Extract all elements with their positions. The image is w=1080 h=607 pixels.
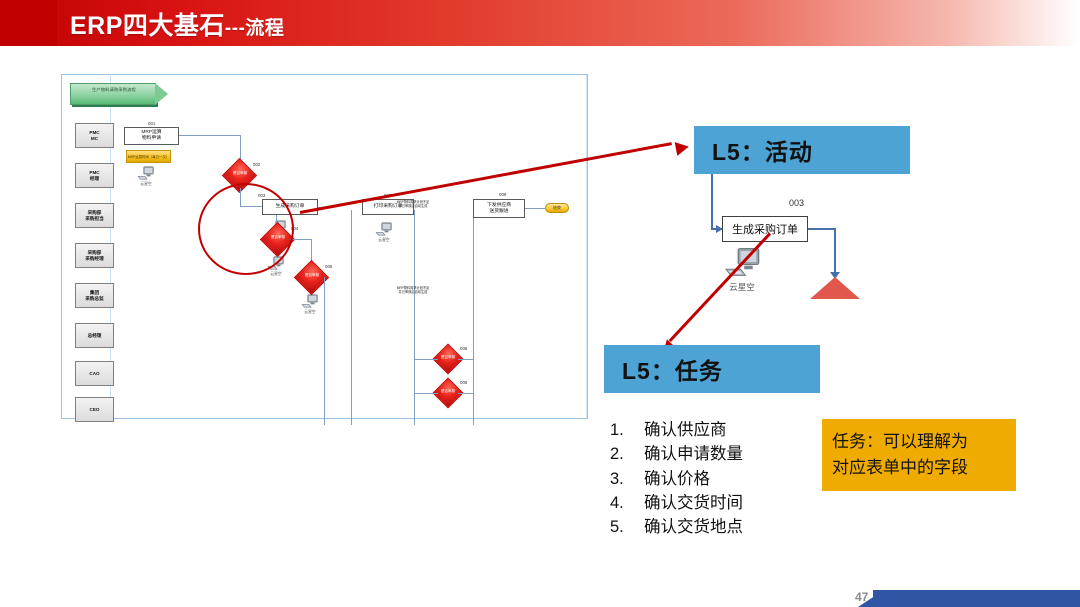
box-num-009: 009	[499, 192, 506, 197]
detail-connector-right2	[808, 228, 836, 230]
explanation-line-1: 任务：可以理解为	[832, 429, 1016, 455]
lane-general-manager: 总经理	[75, 323, 114, 348]
list-item-text: 确认交货地点	[644, 515, 743, 539]
connector	[525, 208, 545, 209]
page-title-suffix: ---流程	[225, 18, 284, 39]
lane-divider	[586, 75, 587, 418]
system-label: 云星空	[371, 238, 397, 243]
callout-box-activity: L5：活动	[694, 126, 910, 174]
connector	[458, 359, 474, 360]
slide-canvas: ERP四大基石---流程 生产物料请购采购流程 PMCMC PMC经理 采购部采…	[0, 0, 1080, 607]
decision-002-label: 是否审核	[225, 171, 255, 176]
explanation-line-2: 对应表单中的字段	[832, 455, 1016, 481]
page-title-main: ERP四大基石	[70, 12, 225, 40]
list-item-text: 确认价格	[644, 467, 710, 491]
highlight-ellipse	[198, 183, 294, 275]
process-box-009: 下发供应商送货跟进	[473, 199, 525, 218]
lane-purchasing-officer: 采购部采购担当	[75, 203, 114, 228]
decision-num-008-a: 008	[460, 346, 467, 351]
lane-pmc-mc: PMCMC	[75, 123, 114, 148]
list-item: 4. 确认交货时间	[610, 491, 840, 515]
list-item-text: 确认申请数量	[644, 442, 743, 466]
inline-note-bottom: MRP物料需求计划不足并已审核后自动生成	[378, 286, 448, 294]
list-item-index: 5.	[610, 515, 644, 539]
connector	[414, 359, 438, 360]
decision-num-008-b: 008	[460, 380, 467, 385]
connector	[414, 393, 438, 394]
detail-connector-down	[834, 228, 836, 276]
connector	[290, 239, 312, 240]
decision-006-label: 是否审核	[297, 273, 327, 278]
lane-cao: CAO	[75, 361, 114, 386]
system-icon	[137, 165, 155, 181]
callout-arrow-activity-head	[675, 140, 690, 156]
system-icon	[375, 221, 393, 237]
page-number: 47	[855, 590, 868, 604]
system-icon	[301, 293, 319, 309]
decision-num-006: 006	[325, 264, 332, 269]
connector	[240, 135, 241, 159]
decision-num-002: 002	[253, 162, 260, 167]
system-label: 云星空	[263, 272, 289, 277]
callout-box-task: L5：任务	[604, 345, 820, 393]
inline-note-top: MRP物料需求计划不足并已审核后自动生成	[378, 200, 448, 208]
page-title: ERP四大基石---流程	[70, 6, 284, 42]
list-item: 5. 确认交货地点	[610, 515, 840, 539]
list-item: 1. 确认供应商	[610, 418, 840, 442]
system-label: 云星空	[297, 310, 323, 315]
list-item-index: 1.	[610, 418, 644, 442]
list-item-text: 确认供应商	[644, 418, 727, 442]
explanation-box: 任务：可以理解为 对应表单中的字段	[822, 419, 1016, 491]
list-item: 2. 确认申请数量	[610, 442, 840, 466]
flowchart-title-banner-arrow	[155, 83, 168, 105]
title-banner-left-block	[0, 0, 57, 46]
process-box-001: MRP运算物料申请	[124, 127, 179, 145]
list-item-text: 确认交货时间	[644, 491, 743, 515]
end-node: 结束	[545, 203, 569, 213]
lane-purchasing-manager: 采购部采购经理	[75, 243, 114, 268]
sticky-note-mrp: MRP运算时间（每日一次）	[126, 150, 171, 163]
connector	[458, 393, 474, 394]
box-num-001: 001	[148, 121, 155, 126]
list-item-index: 3.	[610, 467, 644, 491]
lane-ceo: CEO	[75, 397, 114, 422]
detail-connector-vertical	[711, 174, 713, 229]
detail-decision-shape	[810, 277, 860, 299]
connector	[351, 210, 352, 425]
detail-box-number: 003	[789, 198, 804, 208]
lane-pmc-manager: PMC经理	[75, 163, 114, 188]
task-list: 1. 确认供应商 2. 确认申请数量 3. 确认价格 4. 确认交货时间 5. …	[610, 418, 840, 539]
connector	[324, 277, 325, 425]
flowchart-title-label: 生产物料请购采购流程	[72, 87, 156, 93]
connector	[179, 135, 241, 136]
lane-group-purchasing-director: 集团采购总监	[75, 283, 114, 308]
list-item-index: 4.	[610, 491, 644, 515]
list-item-index: 2.	[610, 442, 644, 466]
footer-bar	[873, 590, 1080, 607]
system-label: 云星空	[133, 182, 159, 187]
list-item: 3. 确认价格	[610, 467, 840, 491]
flowchart-panel: 生产物料请购采购流程 PMCMC PMC经理 采购部采购担当 采购部采购经理 集…	[61, 74, 588, 419]
